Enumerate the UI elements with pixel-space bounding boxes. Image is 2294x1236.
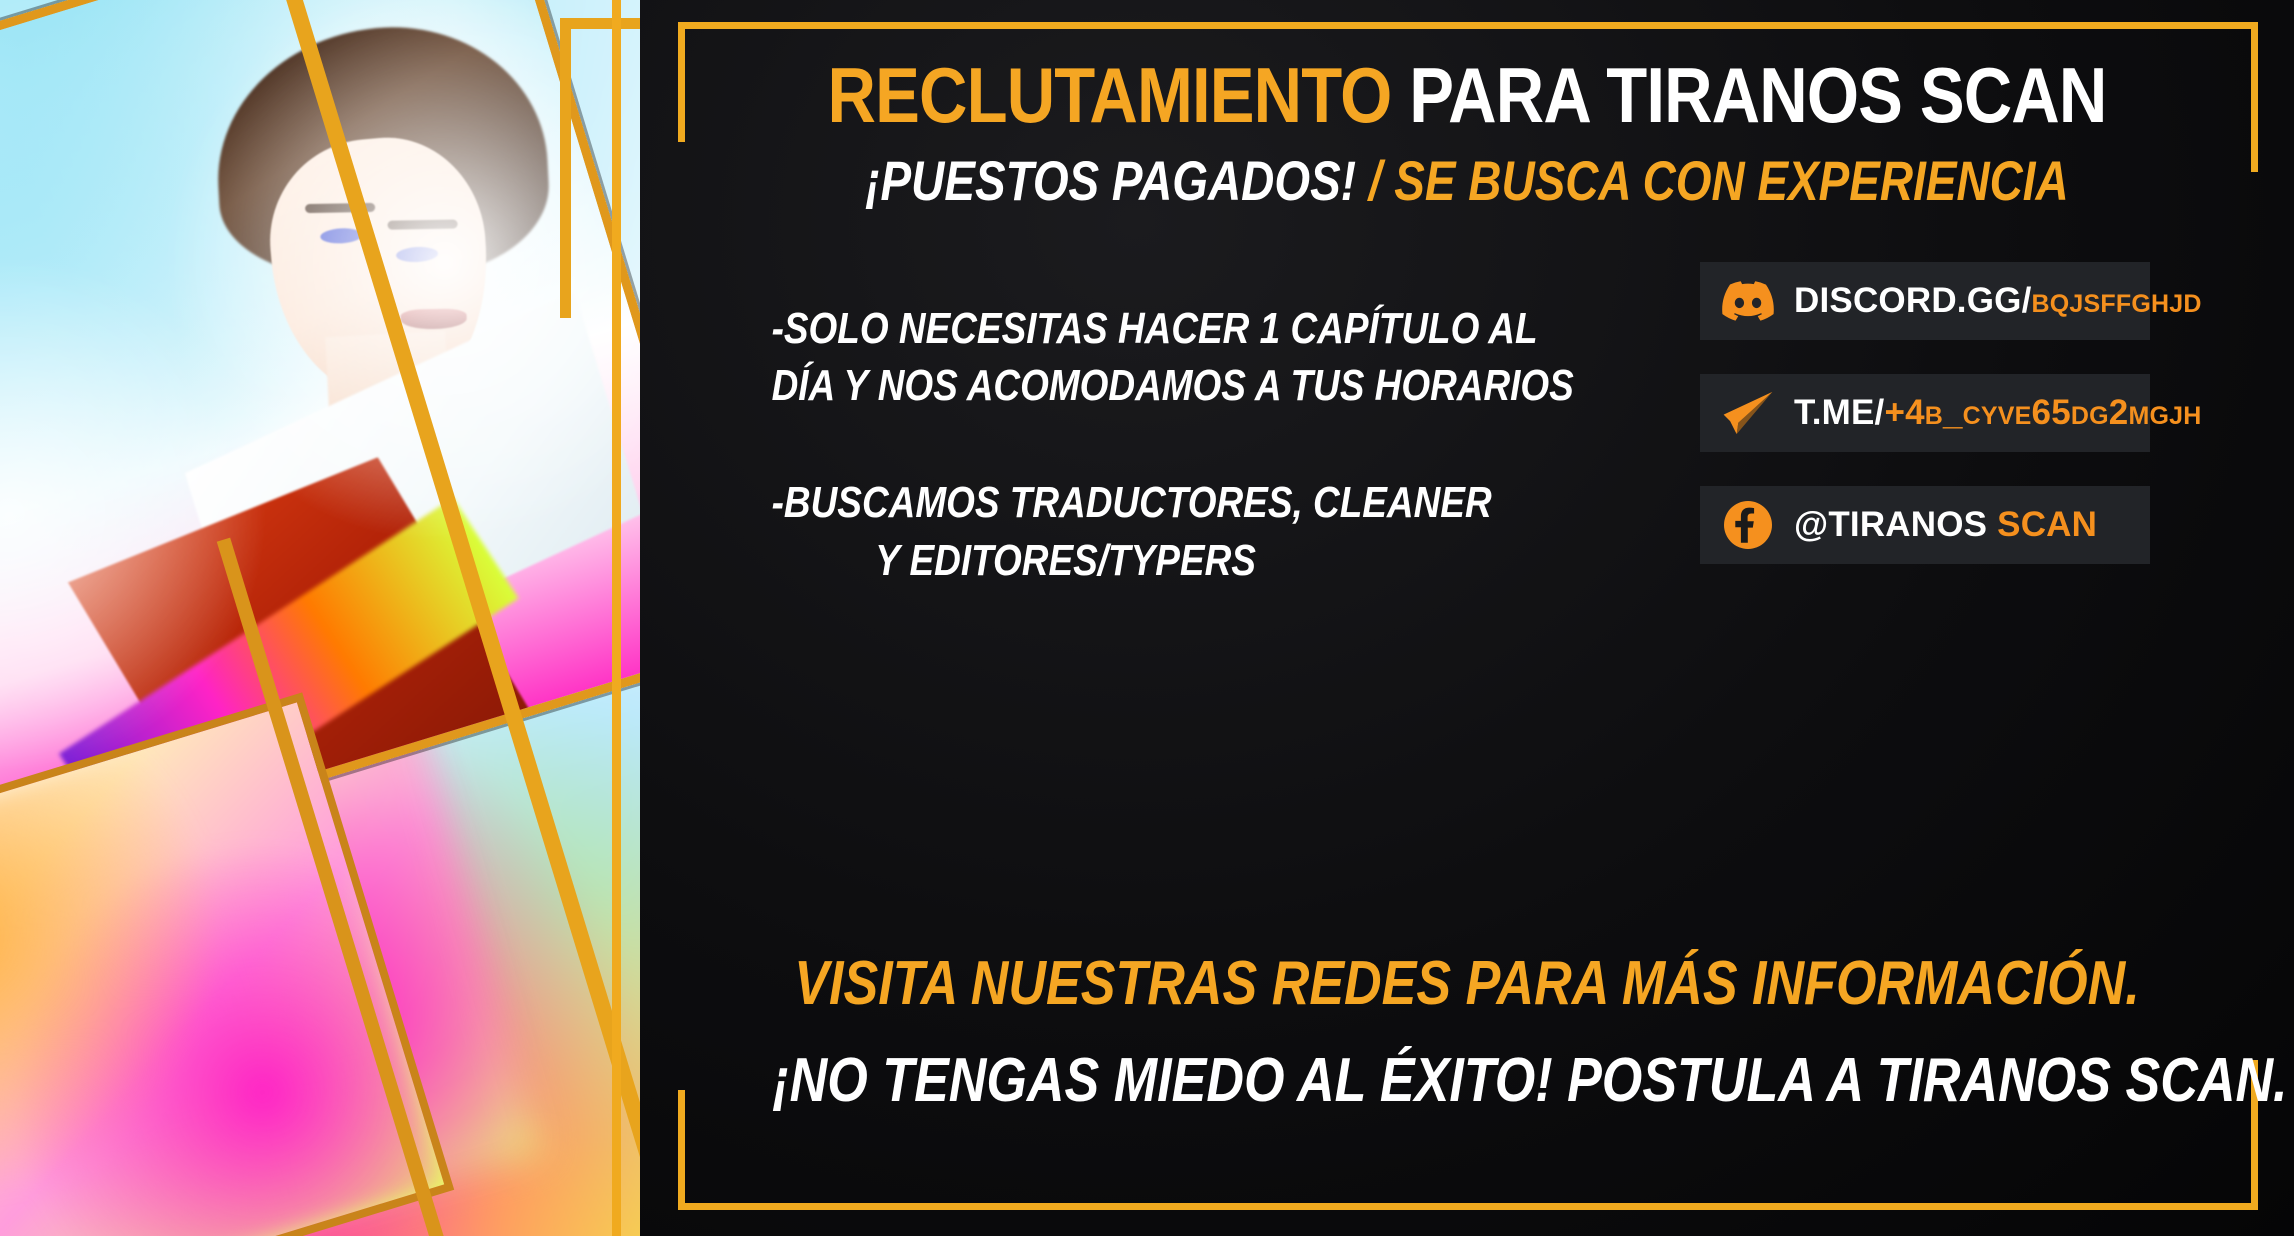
footer-block: VISITA NUESTRAS REDES PARA MÁS INFORMACI… bbox=[640, 948, 2294, 1116]
headline-highlight: RECLUTAMIENTO bbox=[828, 51, 1392, 139]
facebook-icon bbox=[1722, 499, 1774, 551]
subheadline-paid: ¡PUESTOS PAGADOS! bbox=[865, 149, 1356, 212]
contact-text-telegram: T.ME/+4B_CyVe65DG2MGJh bbox=[1794, 393, 2201, 433]
contact-label: T.ME/ bbox=[1794, 393, 1884, 432]
body-paragraph-schedule: -SOLO NECESITAS HACER 1 CAPÍTULO AL DÍA … bbox=[772, 300, 1419, 414]
frame-border-right-top bbox=[2251, 22, 2258, 172]
contact-label: DISCORD.GG/ bbox=[1794, 281, 2032, 320]
contact-label: @TIRANOS bbox=[1794, 505, 1987, 544]
contact-list: DISCORD.GG/BQJsFFgHJd T.ME/+4B_CyVe65DG2… bbox=[1700, 262, 2150, 598]
contact-code: BQJsFFgHJd bbox=[2032, 281, 2202, 320]
contact-text-facebook: @TIRANOS SCAN bbox=[1794, 505, 2097, 545]
subheadline: ¡PUESTOS PAGADOS! / SE BUSCA CON EXPERIE… bbox=[789, 152, 2145, 211]
gold-vertical-divider bbox=[612, 0, 621, 1236]
artwork-panel bbox=[0, 0, 640, 1236]
body-line: -BUSCAMOS TRADUCTORES, CLEANER bbox=[772, 474, 1419, 531]
gold-corner-bracket bbox=[560, 18, 640, 318]
frame-border-left-top bbox=[678, 22, 685, 142]
footer-line-networks: VISITA NUESTRAS REDES PARA MÁS INFORMACI… bbox=[772, 948, 2161, 1019]
contact-code: SCAN bbox=[1987, 505, 2097, 544]
contact-row-facebook[interactable]: @TIRANOS SCAN bbox=[1700, 486, 2150, 564]
body-text-block: -SOLO NECESITAS HACER 1 CAPÍTULO AL DÍA … bbox=[710, 300, 1480, 635]
contact-row-discord[interactable]: DISCORD.GG/BQJsFFgHJd bbox=[1700, 262, 2150, 340]
discord-icon bbox=[1722, 275, 1774, 327]
headline-rest: PARA TIRANOS SCAN bbox=[1391, 51, 2106, 139]
body-paragraph-roles: -BUSCAMOS TRADUCTORES, CLEANER Y EDITORE… bbox=[772, 474, 1419, 588]
recruitment-poster: RECLUTAMIENTO PARA TIRANOS SCAN ¡PUESTOS… bbox=[0, 0, 2294, 1236]
frame-border-top bbox=[678, 22, 2258, 29]
body-line: Y EDITORES/TYPERS bbox=[713, 532, 1419, 589]
body-line: -SOLO NECESITAS HACER 1 CAPÍTULO AL bbox=[772, 300, 1419, 357]
contact-row-telegram[interactable]: T.ME/+4B_CyVe65DG2MGJh bbox=[1700, 374, 2150, 452]
frame-border-bottom bbox=[678, 1203, 2258, 1210]
content-panel: RECLUTAMIENTO PARA TIRANOS SCAN ¡PUESTOS… bbox=[640, 0, 2294, 1236]
contact-code: +4B_CyVe65DG2MGJh bbox=[1884, 393, 2201, 432]
contact-text-discord: DISCORD.GG/BQJsFFgHJd bbox=[1794, 281, 2202, 321]
telegram-icon bbox=[1722, 387, 1774, 439]
subheadline-experience: / SE BUSCA CON EXPERIENCIA bbox=[1356, 149, 2069, 212]
footer-line-cta: ¡NO TENGAS MIEDO AL ÉXITO! POSTULA A TIR… bbox=[772, 1045, 2161, 1116]
headline: RECLUTAMIENTO PARA TIRANOS SCAN bbox=[756, 56, 2178, 136]
body-line: DÍA Y NOS ACOMODAMOS A TUS HORARIOS bbox=[772, 357, 1419, 414]
